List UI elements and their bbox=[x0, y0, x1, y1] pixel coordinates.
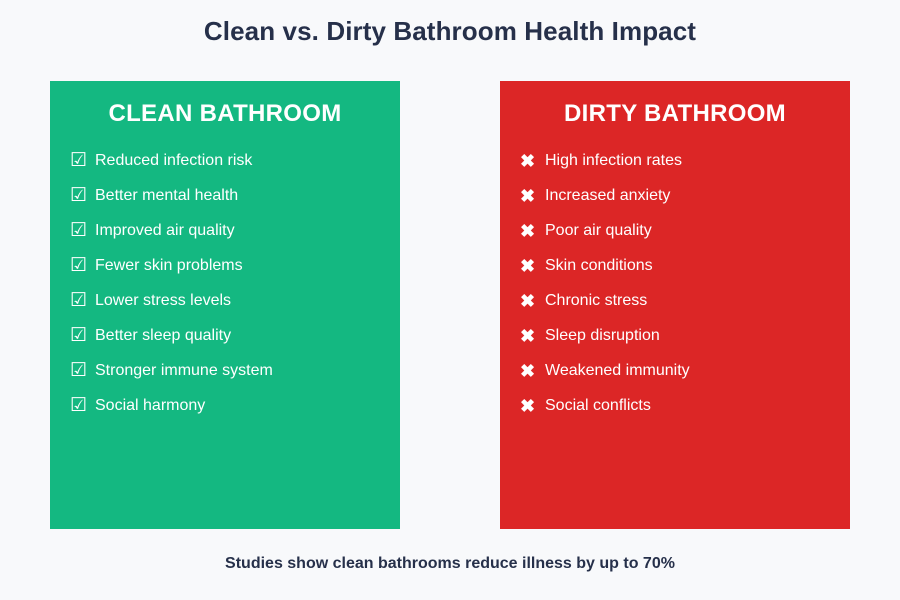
list-item: ☑Stronger immune system bbox=[50, 353, 400, 388]
list-item-label: Increased anxiety bbox=[545, 186, 850, 206]
panel-clean: CLEAN BATHROOM ☑Reduced infection risk☑B… bbox=[50, 81, 400, 529]
list-item: ☑Lower stress levels bbox=[50, 283, 400, 318]
cross-mark-icon: ✖ bbox=[520, 327, 545, 345]
list-item-label: Better mental health bbox=[95, 186, 400, 206]
list-item: ✖Chronic stress bbox=[500, 283, 850, 318]
list-item-label: Chronic stress bbox=[545, 291, 850, 311]
cross-mark-icon: ✖ bbox=[520, 257, 545, 275]
list-item: ☑Improved air quality bbox=[50, 213, 400, 248]
list-item-label: Social conflicts bbox=[545, 396, 850, 416]
list-item: ☑Fewer skin problems bbox=[50, 248, 400, 283]
list-item: ✖High infection rates bbox=[500, 143, 850, 178]
list-item-label: Improved air quality bbox=[95, 221, 400, 241]
list-item-label: Reduced infection risk bbox=[95, 151, 400, 171]
check-box-icon: ☑ bbox=[70, 187, 95, 205]
list-item-label: Fewer skin problems bbox=[95, 256, 400, 276]
list-item: ✖Increased anxiety bbox=[500, 178, 850, 213]
list-item-label: High infection rates bbox=[545, 151, 850, 171]
panel-dirty: DIRTY BATHROOM ✖High infection rates✖Inc… bbox=[500, 81, 850, 529]
list-item-label: Social harmony bbox=[95, 396, 400, 416]
cross-mark-icon: ✖ bbox=[520, 222, 545, 240]
list-item: ✖Social conflicts bbox=[500, 388, 850, 423]
list-item-label: Skin conditions bbox=[545, 256, 850, 276]
check-box-icon: ☑ bbox=[70, 257, 95, 275]
footer-note: Studies show clean bathrooms reduce illn… bbox=[0, 553, 900, 575]
check-box-icon: ☑ bbox=[70, 397, 95, 415]
cross-mark-icon: ✖ bbox=[520, 397, 545, 415]
panel-clean-list: ☑Reduced infection risk☑Better mental he… bbox=[50, 143, 400, 423]
list-item: ✖Poor air quality bbox=[500, 213, 850, 248]
list-item: ✖Skin conditions bbox=[500, 248, 850, 283]
list-item-label: Poor air quality bbox=[545, 221, 850, 241]
list-item-label: Better sleep quality bbox=[95, 326, 400, 346]
cross-mark-icon: ✖ bbox=[520, 362, 545, 380]
check-box-icon: ☑ bbox=[70, 152, 95, 170]
page-title: Clean vs. Dirty Bathroom Health Impact bbox=[0, 14, 900, 48]
cross-mark-icon: ✖ bbox=[520, 292, 545, 310]
cross-mark-icon: ✖ bbox=[520, 187, 545, 205]
list-item: ☑Social harmony bbox=[50, 388, 400, 423]
list-item: ✖Weakened immunity bbox=[500, 353, 850, 388]
cross-mark-icon: ✖ bbox=[520, 152, 545, 170]
check-box-icon: ☑ bbox=[70, 327, 95, 345]
list-item-label: Weakened immunity bbox=[545, 361, 850, 381]
list-item-label: Lower stress levels bbox=[95, 291, 400, 311]
check-box-icon: ☑ bbox=[70, 362, 95, 380]
panel-dirty-heading: DIRTY BATHROOM bbox=[500, 99, 850, 129]
list-item-label: Sleep disruption bbox=[545, 326, 850, 346]
panel-dirty-list: ✖High infection rates✖Increased anxiety✖… bbox=[500, 143, 850, 423]
list-item: ☑Better mental health bbox=[50, 178, 400, 213]
list-item: ☑Reduced infection risk bbox=[50, 143, 400, 178]
list-item: ✖Sleep disruption bbox=[500, 318, 850, 353]
check-box-icon: ☑ bbox=[70, 292, 95, 310]
infographic-root: Clean vs. Dirty Bathroom Health Impact C… bbox=[0, 0, 900, 600]
check-box-icon: ☑ bbox=[70, 222, 95, 240]
list-item-label: Stronger immune system bbox=[95, 361, 400, 381]
panel-clean-heading: CLEAN BATHROOM bbox=[50, 99, 400, 129]
list-item: ☑Better sleep quality bbox=[50, 318, 400, 353]
